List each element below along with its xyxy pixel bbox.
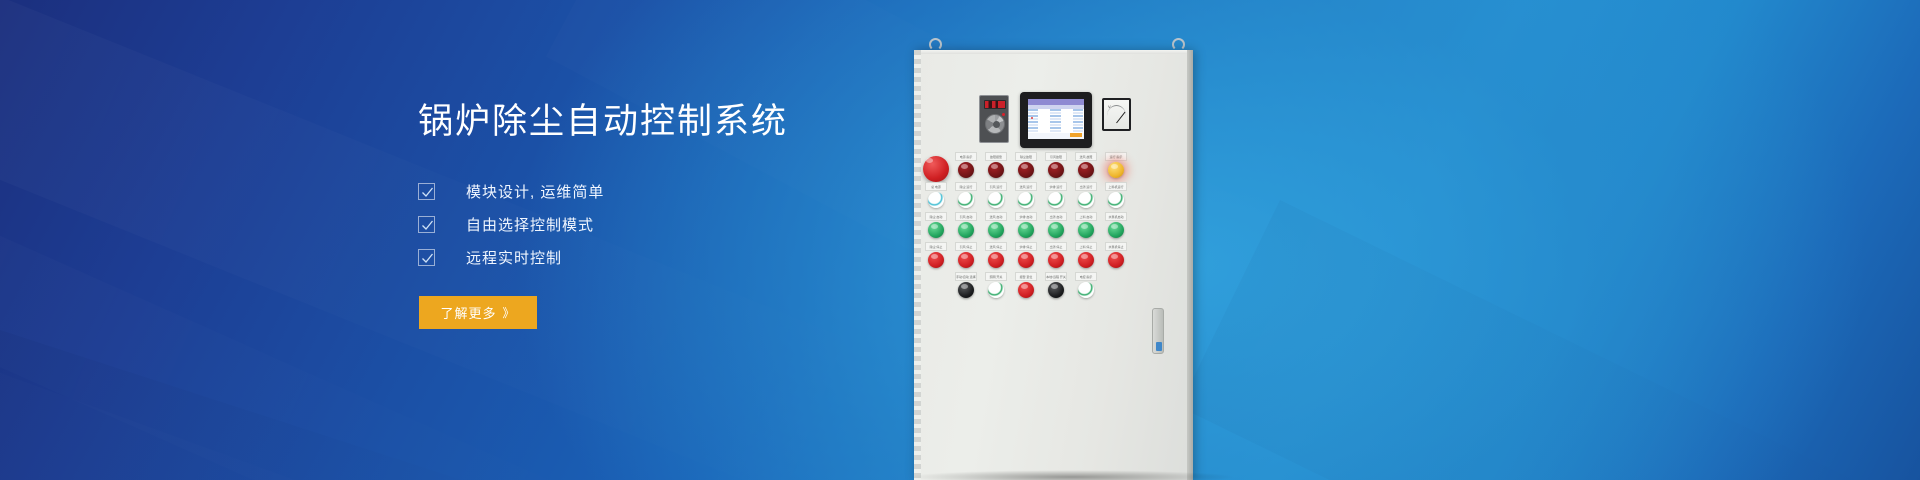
stop-button-cap[interactable] — [1078, 252, 1094, 268]
start-button-cap[interactable] — [928, 222, 944, 238]
stop-button-cap[interactable] — [958, 252, 974, 268]
learn-more-button[interactable]: 了解更多 》 — [419, 296, 537, 329]
button-label-tag: 总 电源 — [925, 182, 947, 191]
start-button[interactable]: 水泵机启动 — [1101, 212, 1131, 238]
feature-label: 模块设计, 运维简单 — [466, 181, 604, 202]
indicator-lamp[interactable]: 送风 运行 — [1011, 182, 1041, 208]
button-label-tag: 炉排 运行 — [1045, 182, 1067, 191]
stop-button[interactable]: 除尘 停止 — [921, 242, 951, 268]
button-label-tag: 炉排 停止 — [1015, 242, 1037, 251]
start-button-cap[interactable] — [1018, 222, 1034, 238]
stop-button-cap[interactable] — [1048, 252, 1064, 268]
checkbox-checked-icon — [418, 183, 435, 200]
indicator-lamp-cap[interactable] — [1078, 162, 1094, 178]
button-label-tag: 炉排 启动 — [1015, 212, 1037, 221]
start-button[interactable]: 出渣 启动 — [1041, 212, 1071, 238]
mode-selector-switch[interactable]: 手动/自动 选择开关 — [951, 272, 981, 298]
start-button-cap[interactable] — [1048, 222, 1064, 238]
alarm-reset-button[interactable]: 报警 复位 — [1011, 272, 1041, 298]
button-label-tag: 故障报警 — [985, 152, 1007, 161]
banner-copy: 锅炉除尘自动控制系统 模块设计, 运维简单 自由选择控制模式 远程实时控制 — [418, 104, 888, 274]
button-label-tag: 除尘故障 — [1015, 152, 1037, 161]
checkbox-checked-icon — [418, 249, 435, 266]
indicator-lamp[interactable]: 故障报警 — [981, 152, 1011, 178]
stop-button[interactable]: 引风 停止 — [951, 242, 981, 268]
hero-banner: 锅炉除尘自动控制系统 模块设计, 运维简单 自由选择控制模式 远程实时控制 — [0, 0, 1920, 480]
indicator-lamp-cap[interactable] — [1048, 162, 1064, 178]
indicator-lamp[interactable]: 电控 指示 — [1071, 272, 1101, 298]
indicator-lamp-cap[interactable] — [1078, 282, 1094, 298]
indicator-lamp-cap[interactable] — [1078, 192, 1094, 208]
indicator-lamp[interactable]: 送风 故障 — [1071, 152, 1101, 178]
button-label-tag: 上料 停止 — [1075, 242, 1097, 251]
button-label-tag: 报警 复位 — [1015, 272, 1037, 281]
stop-button-cap[interactable] — [1018, 252, 1034, 268]
emergency-stop-button-cap[interactable] — [923, 156, 949, 182]
list-item: 自由选择控制模式 — [418, 208, 888, 241]
button-label-tag: 除尘 运行 — [955, 182, 977, 191]
start-button[interactable]: 送风 启动 — [981, 212, 1011, 238]
indicator-lamp-cap[interactable] — [1018, 192, 1034, 208]
button-label-tag: 送风 停止 — [985, 242, 1007, 251]
emergency-stop-button[interactable] — [921, 152, 951, 182]
button-label-tag: 手动/自动 选择开关 — [955, 272, 977, 281]
alarm-reset-button-cap[interactable] — [1018, 282, 1034, 298]
indicator-lamp-cap[interactable] — [958, 162, 974, 178]
start-button[interactable]: 除尘 启动 — [921, 212, 951, 238]
button-label-tag: 运行 指示 — [1105, 152, 1127, 161]
button-label-tag: 出渣 启动 — [1045, 212, 1067, 221]
indicator-lamp-cap[interactable] — [988, 162, 1004, 178]
page-title: 锅炉除尘自动控制系统 — [418, 104, 888, 139]
button-label-tag: 送风 启动 — [985, 212, 1007, 221]
button-label-tag: 引风 启动 — [955, 212, 977, 221]
lighting-switch-cap[interactable] — [988, 282, 1004, 298]
button-label-tag: 水泵机启动 — [1105, 212, 1127, 221]
cabinet-right-edge — [1187, 50, 1193, 480]
stop-button[interactable]: 水泵机停止 — [1101, 242, 1131, 268]
indicator-lamp[interactable]: 出渣 运行 — [1071, 182, 1101, 208]
indicator-lamp-cap[interactable] — [1018, 162, 1034, 178]
button-label-tag: 本地/远程 开关 — [1045, 272, 1067, 281]
indicator-lamp[interactable]: 除尘故障 — [1011, 152, 1041, 178]
cabinet-floor-shadow — [906, 470, 1236, 480]
indicator-lamp-cap[interactable] — [958, 192, 974, 208]
indicator-lamp[interactable]: 引风 运行 — [981, 182, 1011, 208]
button-label-tag: 送风 故障 — [1075, 152, 1097, 161]
indicator-lamp[interactable]: 炉排 运行 — [1041, 182, 1071, 208]
start-button-cap[interactable] — [1108, 222, 1124, 238]
start-button-cap[interactable] — [958, 222, 974, 238]
stop-button[interactable]: 出渣 停止 — [1041, 242, 1071, 268]
indicator-lamp-cap[interactable] — [988, 192, 1004, 208]
button-label-tag: 引风 运行 — [985, 182, 1007, 191]
start-button[interactable]: 引风 启动 — [951, 212, 981, 238]
indicator-lamp-cap[interactable] — [1108, 192, 1124, 208]
mode-selector-switch-cap[interactable] — [958, 282, 974, 298]
button-label-tag: 水泵机停止 — [1105, 242, 1127, 251]
indicator-lamp-active-cap[interactable] — [1108, 162, 1124, 178]
indicator-lamp-active[interactable]: 运行 指示 — [1101, 152, 1131, 178]
button-label-tag: 引风 停止 — [955, 242, 977, 251]
cabinet-door-handle[interactable] — [1152, 308, 1164, 354]
button-label-tag: 上料 启动 — [1075, 212, 1097, 221]
button-label-tag: 电控 指示 — [1075, 272, 1097, 281]
indicator-lamp[interactable]: 总 电源 — [921, 182, 951, 208]
stop-button-cap[interactable] — [928, 252, 944, 268]
stop-button[interactable]: 上料 停止 — [1071, 242, 1101, 268]
cta-label: 了解更多 — [440, 303, 496, 322]
indicator-lamp[interactable]: 上料机运行 — [1101, 182, 1131, 208]
checkbox-checked-icon — [418, 216, 435, 233]
stop-button[interactable]: 炉排 停止 — [1011, 242, 1041, 268]
stop-button-cap[interactable] — [1108, 252, 1124, 268]
stop-button[interactable]: 送风 停止 — [981, 242, 1011, 268]
indicator-lamp-cap[interactable] — [928, 192, 944, 208]
indicator-lamp-cap[interactable] — [1048, 192, 1064, 208]
start-button[interactable]: 炉排 启动 — [1011, 212, 1041, 238]
stop-button-cap[interactable] — [988, 252, 1004, 268]
cabinet-door-lock-icon — [1156, 342, 1162, 351]
button-label-tag: 电源 指示 — [955, 152, 977, 161]
indicator-lamp[interactable]: 引风故障 — [1041, 152, 1071, 178]
button-label-tag: 除尘 停止 — [925, 242, 947, 251]
chevron-right-icon: 》 — [503, 304, 516, 321]
button-label-tag: 出渣 运行 — [1075, 182, 1097, 191]
feature-list: 模块设计, 运维简单 自由选择控制模式 远程实时控制 — [418, 175, 888, 274]
indicator-lamp[interactable]: 除尘 运行 — [951, 182, 981, 208]
button-label-tag: 送风 运行 — [1015, 182, 1037, 191]
indicator-lamp[interactable]: 电源 指示 — [951, 152, 981, 178]
list-item: 模块设计, 运维简单 — [418, 175, 888, 208]
button-label-tag: 上料机运行 — [1105, 182, 1127, 191]
background-shadow-streak — [0, 330, 590, 480]
lighting-switch[interactable]: 照明 开关 — [981, 272, 1011, 298]
control-cabinet-image: V 电源 指示故障报警除尘故障引风故障送风 故障运行 指示总 电源除尘 运行引风… — [906, 0, 1236, 480]
start-button[interactable]: 上料 启动 — [1071, 212, 1101, 238]
feature-label: 远程实时控制 — [466, 247, 562, 268]
list-item: 远程实时控制 — [418, 241, 888, 274]
background-light-streak — [0, 300, 646, 480]
button-label-tag: 除尘 启动 — [925, 212, 947, 221]
local-remote-switch-cap[interactable] — [1048, 282, 1064, 298]
control-button-grid: 电源 指示故障报警除尘故障引风故障送风 故障运行 指示总 电源除尘 运行引风 运… — [906, 0, 1185, 430]
feature-label: 自由选择控制模式 — [466, 214, 594, 235]
button-label-tag: 照明 开关 — [985, 272, 1007, 281]
button-label-tag: 出渣 停止 — [1045, 242, 1067, 251]
background-shadow-streak — [1179, 200, 1920, 480]
local-remote-switch[interactable]: 本地/远程 开关 — [1041, 272, 1071, 298]
start-button-cap[interactable] — [988, 222, 1004, 238]
start-button-cap[interactable] — [1078, 222, 1094, 238]
button-label-tag: 引风故障 — [1045, 152, 1067, 161]
